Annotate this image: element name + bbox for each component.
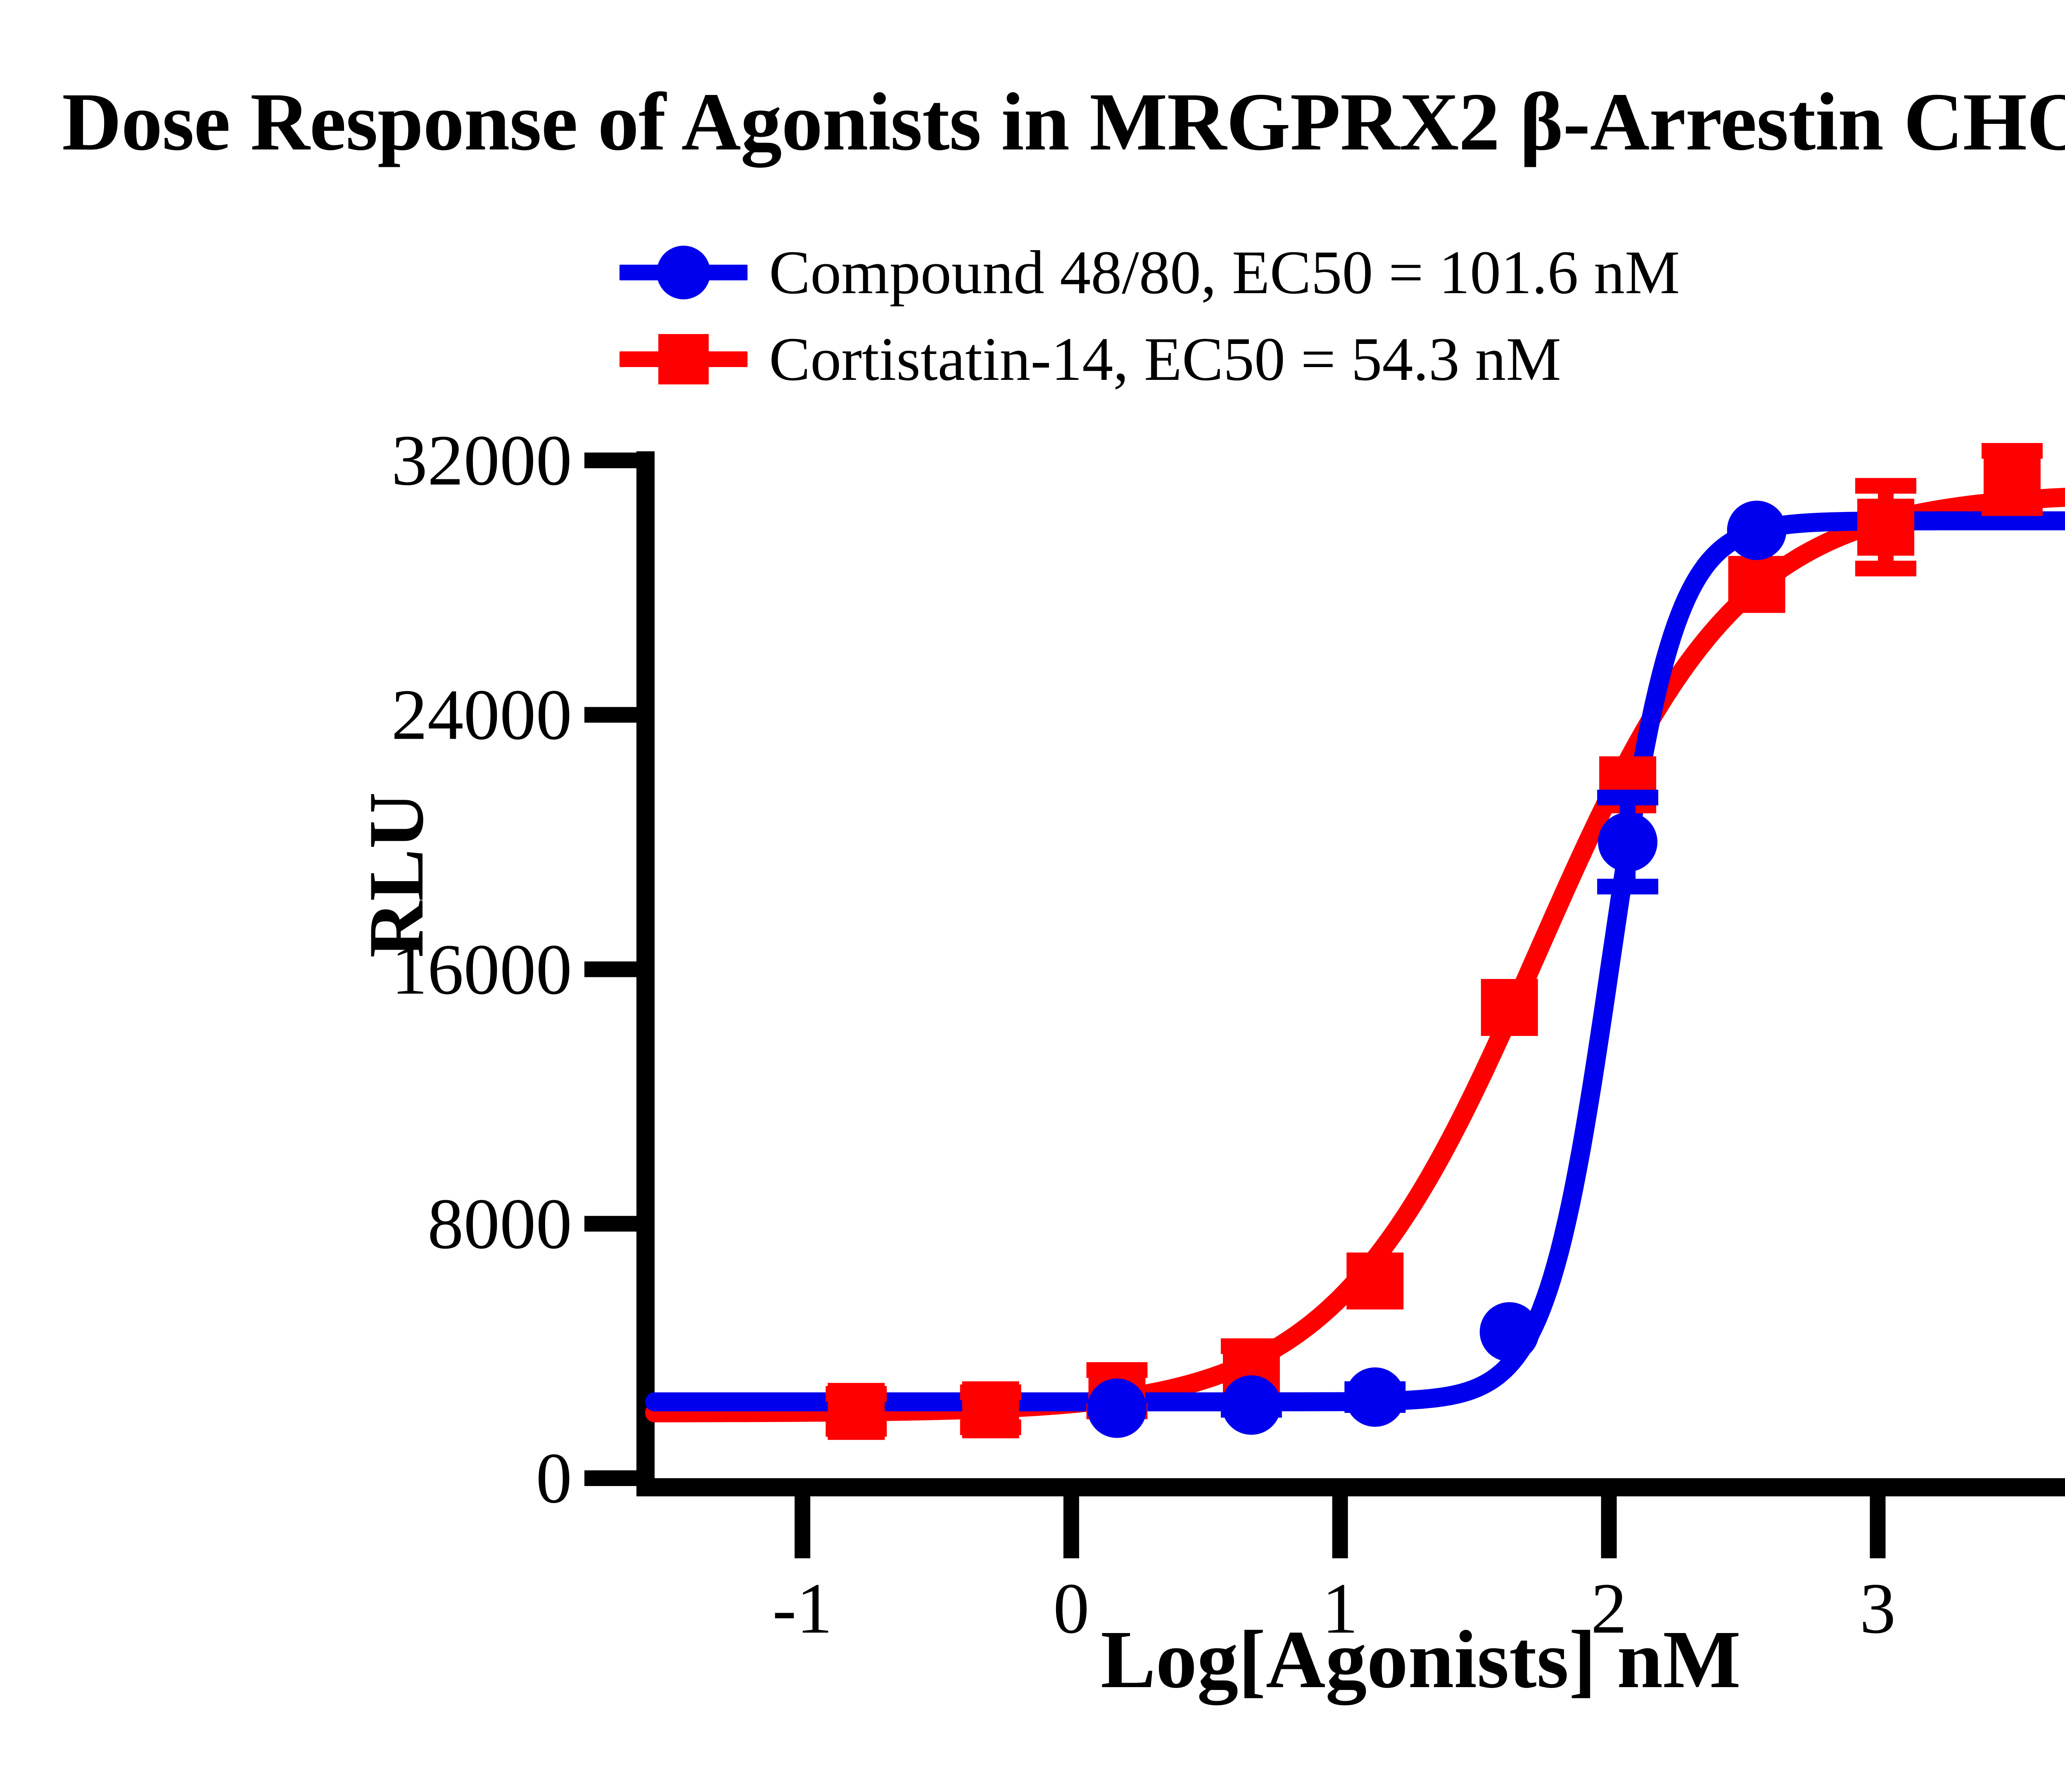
y-tick-3 (584, 707, 637, 723)
error-cap-compound-4880-4-0 (1597, 790, 1658, 806)
data-point-compound-4880-5 (1727, 500, 1787, 560)
error-cap-cortistatin-14-1-0 (960, 1384, 1021, 1400)
error-cap-cortistatin-14-1-1 (960, 1420, 1021, 1435)
x-tick-4 (1870, 1496, 1885, 1558)
x-tick-label-2: 1 (1322, 1567, 1358, 1650)
legend-marker-square-red (619, 334, 748, 384)
error-bar-cortistatin-14-2 (1109, 1370, 1125, 1411)
error-bar-cortistatin-14-3 (1244, 1346, 1259, 1400)
data-point-cortistatin-14-8 (1857, 499, 1914, 556)
chart-legend: Compound 48/80, EC50 = 101.6 nM Cortista… (619, 229, 1680, 403)
x-tick-0 (795, 1496, 810, 1558)
x-axis-label: Log[Agonists] nM (655, 1612, 2065, 1707)
chart-figure: Dose Response of Agonists in MRGPRX2 β-A… (0, 0, 2065, 1792)
data-point-cortistatin-14-0 (828, 1383, 885, 1440)
curve-cortistatin-14 (655, 494, 2065, 1413)
data-point-compound-4880-1 (1222, 1375, 1281, 1435)
series-cortistatin-14 (826, 443, 2065, 1440)
error-cap-cortistatin-14-0-0 (826, 1386, 887, 1402)
error-cap-cortistatin-14-8-1 (1855, 561, 1916, 576)
x-tick-1 (1063, 1496, 1079, 1558)
error-bar-cortistatin-14-0 (848, 1394, 864, 1429)
y-tick-label-4: 32000 (392, 419, 572, 502)
data-point-cortistatin-14-5 (1481, 979, 1538, 1036)
error-bar-compound-4880-2 (1367, 1389, 1383, 1405)
y-tick-4 (584, 453, 637, 468)
data-point-cortistatin-14-6 (1599, 756, 1656, 813)
x-tick-2 (1332, 1496, 1348, 1558)
y-tick-label-3: 24000 (392, 673, 572, 756)
data-point-cortistatin-14-3 (1223, 1345, 1280, 1402)
y-tick-1 (584, 1216, 637, 1232)
y-tick-label-2: 16000 (392, 928, 572, 1011)
x-tick-label-3: 2 (1591, 1567, 1627, 1650)
error-cap-cortistatin-14-2-1 (1087, 1403, 1148, 1419)
y-tick-2 (584, 962, 637, 977)
x-tick-3 (1601, 1496, 1617, 1558)
x-axis-spine (636, 1478, 2065, 1496)
x-tick-label-0: -1 (772, 1567, 833, 1650)
error-cap-compound-4880-1-0 (1221, 1392, 1282, 1408)
error-cap-compound-4880-4-1 (1597, 879, 1658, 894)
data-point-cortistatin-14-4 (1346, 1252, 1403, 1309)
data-point-compound-4880-4 (1598, 812, 1657, 872)
error-cap-cortistatin-14-2-0 (1087, 1362, 1148, 1378)
error-cap-cortistatin-14-0-1 (826, 1421, 887, 1437)
error-cap-cortistatin-14-9-1 (1982, 500, 2043, 516)
data-point-cortistatin-14-7 (1728, 556, 1785, 613)
series-compound-4880 (1087, 500, 1787, 1438)
legend-item-cortistatin-14: Cortistatin-14, EC50 = 54.3 nM (619, 316, 1680, 403)
data-point-cortistatin-14-2 (1089, 1362, 1146, 1419)
error-bar-cortistatin-14-9 (2004, 451, 2020, 508)
error-cap-cortistatin-14-9-0 (1982, 443, 2043, 459)
legend-marker-circle-blue (619, 248, 748, 297)
legend-label-compound-4880: Compound 48/80, EC50 = 101.6 nM (769, 237, 1680, 308)
data-point-compound-4880-0 (1087, 1379, 1147, 1438)
error-bar-cortistatin-14-1 (983, 1392, 999, 1427)
y-tick-label-1: 8000 (427, 1182, 572, 1265)
error-cap-compound-4880-2-1 (1344, 1397, 1405, 1413)
error-cap-compound-4880-1-1 (1221, 1402, 1282, 1417)
data-point-cortistatin-14-9 (1984, 451, 2041, 508)
error-cap-cortistatin-14-8-0 (1855, 478, 1916, 494)
y-axis-spine (636, 451, 655, 1496)
data-point-cortistatin-14-1 (962, 1381, 1019, 1438)
chart-title: Dose Response of Agonists in MRGPRX2 β-A… (62, 54, 2065, 173)
error-cap-compound-4880-2-0 (1344, 1381, 1405, 1397)
data-point-compound-4880-3 (1480, 1302, 1539, 1362)
error-cap-cortistatin-14-3-1 (1221, 1392, 1282, 1408)
legend-label-cortistatin-14: Cortistatin-14, EC50 = 54.3 nM (769, 324, 1561, 395)
error-cap-cortistatin-14-3-0 (1221, 1338, 1282, 1354)
x-tick-label-1: 0 (1053, 1567, 1089, 1650)
y-tick-0 (584, 1470, 637, 1486)
curve-compound-4880 (655, 521, 2065, 1402)
y-tick-label-0: 0 (536, 1437, 572, 1520)
legend-item-compound-4880: Compound 48/80, EC50 = 101.6 nM (619, 229, 1680, 316)
error-bar-compound-4880-4 (1620, 798, 1635, 887)
error-bar-cortistatin-14-8 (1878, 486, 1894, 569)
data-point-compound-4880-2 (1345, 1368, 1405, 1427)
error-bar-compound-4880-1 (1244, 1400, 1259, 1410)
x-tick-label-4: 3 (1860, 1567, 1896, 1650)
